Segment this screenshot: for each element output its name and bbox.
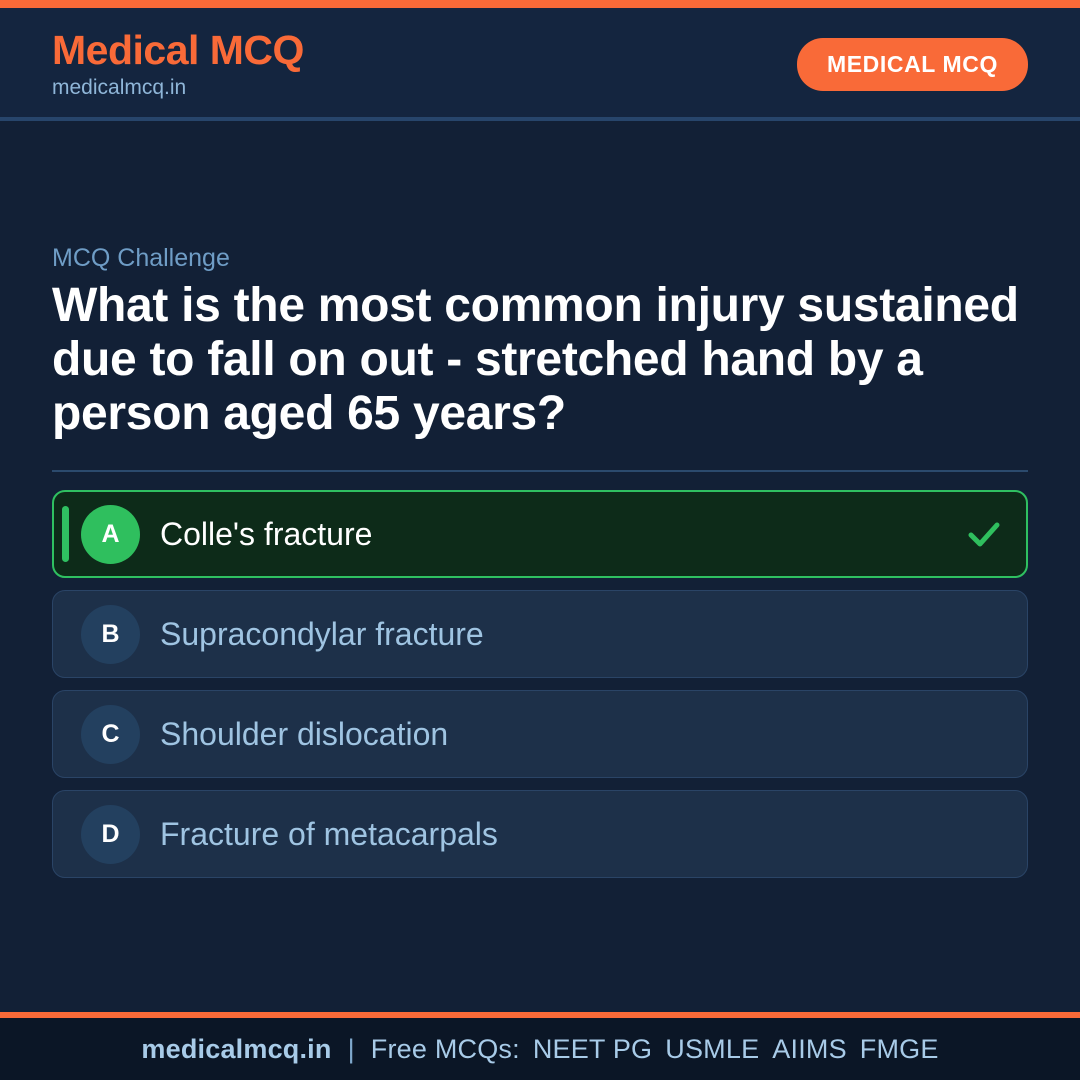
footer-exam-aiims[interactable]: AIIMS bbox=[772, 1034, 860, 1065]
section-divider bbox=[52, 470, 1028, 472]
footer-site-link[interactable]: medicalmcq.in bbox=[141, 1034, 331, 1065]
footer-exam-fmge[interactable]: FMGE bbox=[860, 1034, 939, 1065]
footer-separator: | bbox=[332, 1034, 371, 1065]
footer: medicalmcq.in | Free MCQs: NEET PG USMLE… bbox=[0, 1018, 1080, 1080]
option-d-badge: D bbox=[81, 805, 140, 864]
option-c-badge: C bbox=[81, 705, 140, 764]
question-text: What is the most common injury sustained… bbox=[52, 279, 1027, 440]
top-accent-bar bbox=[0, 0, 1080, 8]
option-d[interactable]: D Fracture of metacarpals bbox=[52, 790, 1028, 878]
brand-subtitle: medicalmcq.in bbox=[52, 76, 304, 99]
main-content: MCQ Challenge What is the most common in… bbox=[0, 121, 1080, 1012]
check-icon bbox=[964, 514, 1004, 554]
option-b-badge: B bbox=[81, 605, 140, 664]
option-a[interactable]: A Colle's fracture bbox=[52, 490, 1028, 578]
option-a-badge: A bbox=[81, 505, 140, 564]
brand: Medical MCQ medicalmcq.in bbox=[52, 29, 304, 99]
footer-exam-neet-pg[interactable]: NEET PG bbox=[533, 1034, 665, 1065]
mcq-card: Medical MCQ medicalmcq.in MEDICAL MCQ MC… bbox=[0, 0, 1080, 1080]
header-badge: MEDICAL MCQ bbox=[797, 38, 1028, 91]
eyebrow-label: MCQ Challenge bbox=[52, 243, 1028, 273]
option-d-label: Fracture of metacarpals bbox=[160, 815, 1005, 853]
options-list: A Colle's fracture B Supracondylar fract… bbox=[52, 490, 1028, 878]
option-b-label: Supracondylar fracture bbox=[160, 615, 1005, 653]
header: Medical MCQ medicalmcq.in MEDICAL MCQ bbox=[0, 8, 1080, 121]
brand-title: Medical MCQ bbox=[52, 29, 304, 72]
option-a-label: Colle's fracture bbox=[160, 515, 952, 553]
option-b[interactable]: B Supracondylar fracture bbox=[52, 590, 1028, 678]
footer-tagline: Free MCQs: bbox=[371, 1034, 533, 1065]
footer-exam-usmle[interactable]: USMLE bbox=[665, 1034, 772, 1065]
option-c-label: Shoulder dislocation bbox=[160, 715, 1005, 753]
option-c[interactable]: C Shoulder dislocation bbox=[52, 690, 1028, 778]
